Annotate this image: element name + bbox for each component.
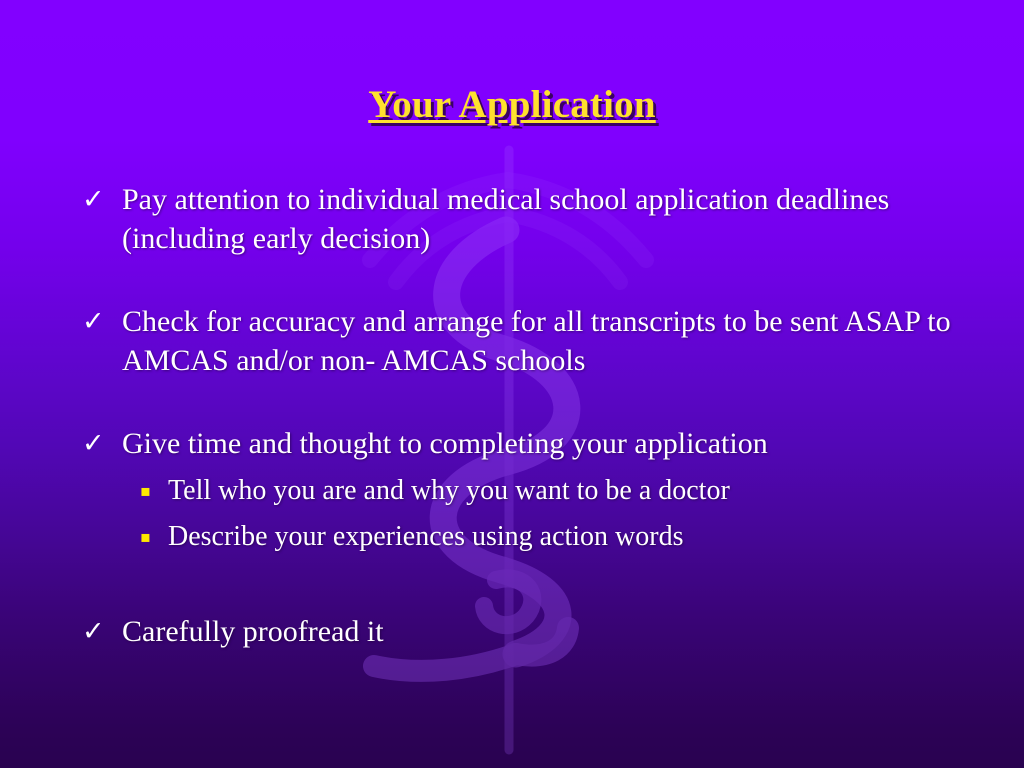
bullet-text: Check for accuracy and arrange for all t… [122,302,982,380]
bullet-group: ✓ Check for accuracy and arrange for all… [82,302,982,380]
sub-bullet-item: ▪ Describe your experiences using action… [140,517,982,556]
bullet-item: ✓ Pay attention to individual medical sc… [82,180,982,258]
bullet-item: ✓ Carefully proofread it [82,612,982,651]
check-mark-bullet-icon: ✓ [82,180,122,219]
sub-bullet-text: Describe your experiences using action w… [168,517,982,556]
bullet-item: ✓ Give time and thought to completing yo… [82,424,982,463]
presentation-slide: Your Application ✓ Pay attention to indi… [0,0,1024,768]
title-block: Your Application [0,82,1024,127]
bullet-text: Carefully proofread it [122,612,982,651]
check-mark-bullet-icon: ✓ [82,612,122,651]
check-mark-bullet-icon: ✓ [82,302,122,341]
sub-bullet-item: ▪ Tell who you are and why you want to b… [140,471,982,510]
bullet-text: Pay attention to individual medical scho… [122,180,982,258]
square-bullet-icon: ▪ [140,517,168,556]
page-title: Your Application [368,82,655,127]
bullet-group: ✓ Give time and thought to completing yo… [82,424,982,556]
sub-bullet-text: Tell who you are and why you want to be … [168,471,982,510]
slide-body: ✓ Pay attention to individual medical sc… [82,180,982,651]
bullet-text: Give time and thought to completing your… [122,424,982,463]
sub-bullet-list: ▪ Tell who you are and why you want to b… [140,471,982,556]
bullet-item: ✓ Check for accuracy and arrange for all… [82,302,982,380]
bullet-group: ✓ Carefully proofread it [82,612,982,651]
bullet-group: ✓ Pay attention to individual medical sc… [82,180,982,258]
square-bullet-icon: ▪ [140,471,168,510]
check-mark-bullet-icon: ✓ [82,424,122,463]
